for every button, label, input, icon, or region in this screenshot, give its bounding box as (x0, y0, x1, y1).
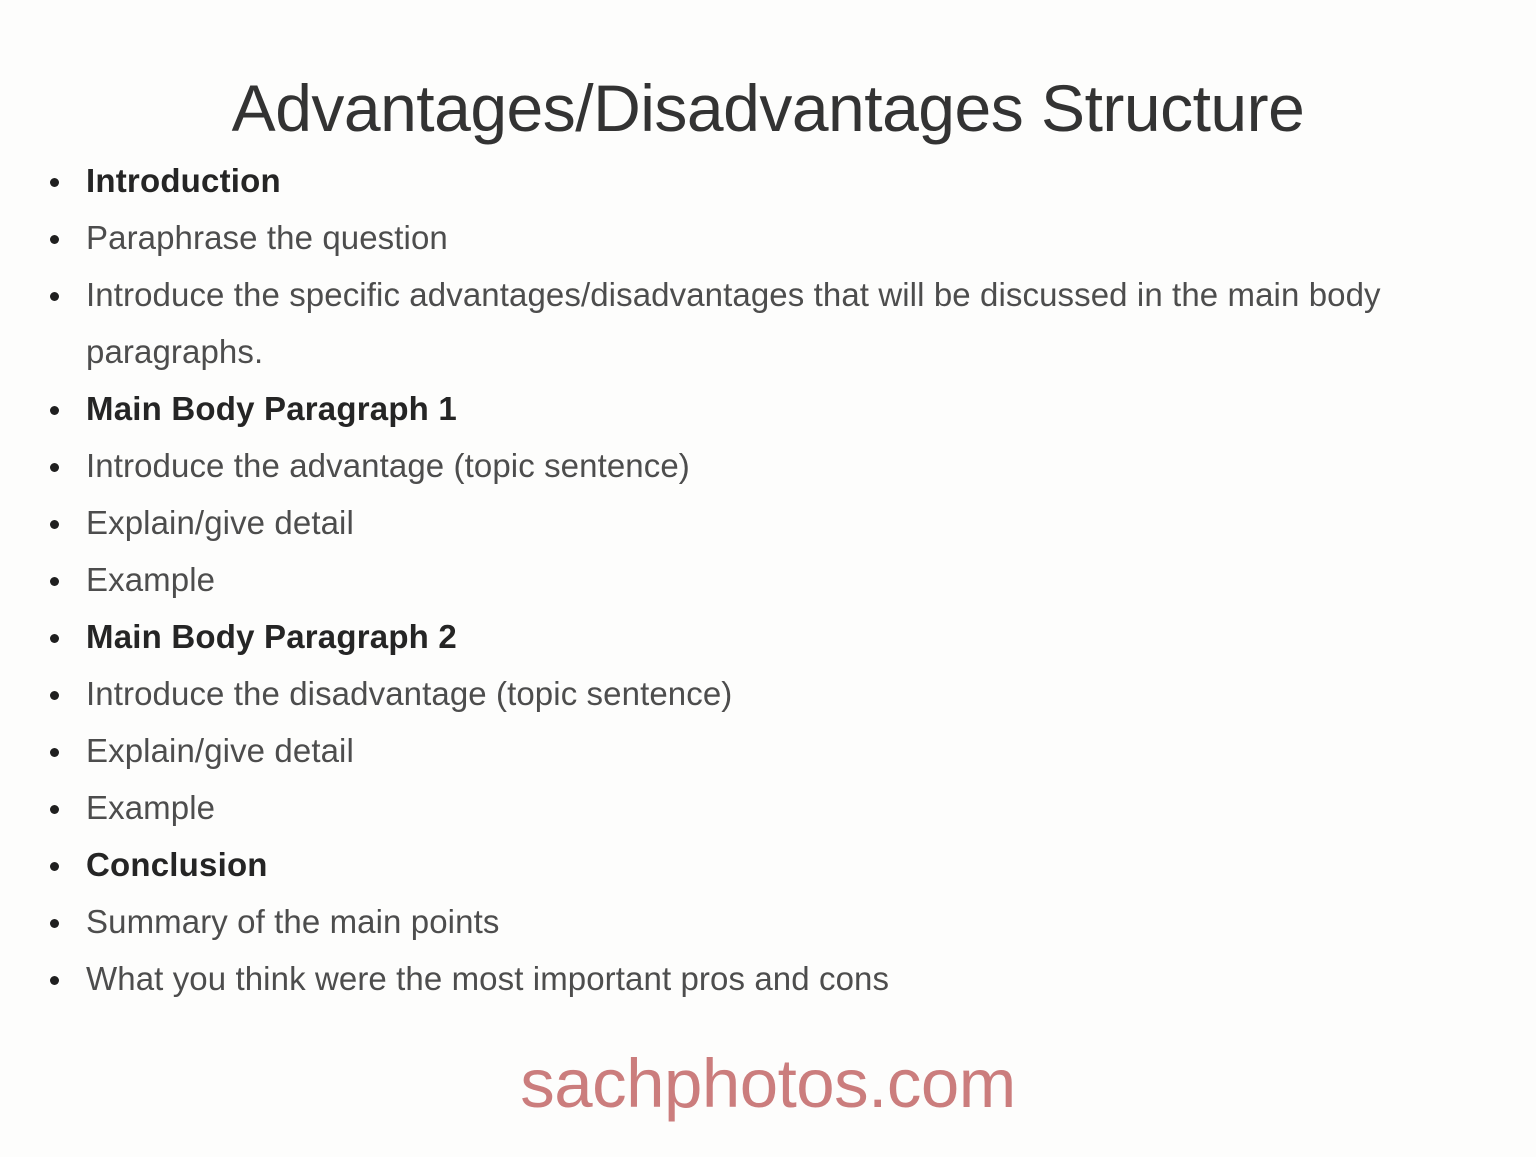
outline-bullet-item: Example (44, 551, 1492, 608)
bullet-dot-icon (50, 691, 59, 700)
outline-item-label: Main Body Paragraph 2 (86, 608, 1492, 665)
outline-item-label: Explain/give detail (86, 494, 1492, 551)
bullet-dot-icon (50, 178, 59, 187)
bullet-dot-icon (50, 805, 59, 814)
outline-item-label: Paraphrase the question (86, 209, 1492, 266)
outline-bullet-item: Explain/give detail (44, 494, 1492, 551)
outline-bullet-item: Introduce the specific advantages/disadv… (44, 266, 1492, 380)
bullet-dot-icon (50, 406, 59, 415)
bullet-dot-icon (50, 976, 59, 985)
outline-bullet-item: Introduce the advantage (topic sentence) (44, 437, 1492, 494)
bullet-dot-icon (50, 634, 59, 643)
bullet-dot-icon (50, 292, 59, 301)
outline-item-label: What you think were the most important p… (86, 950, 1492, 1007)
outline-item-label: Conclusion (86, 836, 1492, 893)
outline-section-heading: Introduction (44, 152, 1492, 209)
outline-bullet-item: Paraphrase the question (44, 209, 1492, 266)
outline-section-heading: Main Body Paragraph 1 (44, 380, 1492, 437)
outline-bullet-item: Explain/give detail (44, 722, 1492, 779)
outline-item-label: Example (86, 551, 1492, 608)
bullet-dot-icon (50, 520, 59, 529)
outline-bullet-list: IntroductionParaphrase the questionIntro… (44, 152, 1492, 1007)
outline-section-heading: Conclusion (44, 836, 1492, 893)
outline-item-label: Example (86, 779, 1492, 836)
bullet-dot-icon (50, 577, 59, 586)
bullet-dot-icon (50, 235, 59, 244)
outline-item-label: Introduce the specific advantages/disadv… (86, 266, 1492, 380)
outline-bullet-item: What you think were the most important p… (44, 950, 1492, 1007)
outline-item-label: Introduce the disadvantage (topic senten… (86, 665, 1492, 722)
bullet-dot-icon (50, 748, 59, 757)
outline-bullet-item: Summary of the main points (44, 893, 1492, 950)
outline-item-label: Explain/give detail (86, 722, 1492, 779)
bullet-dot-icon (50, 463, 59, 472)
slide-canvas: Advantages/Disadvantages Structure Intro… (0, 0, 1536, 1157)
outline-bullet-item: Example (44, 779, 1492, 836)
bullet-dot-icon (50, 919, 59, 928)
outline-bullet-item: Introduce the disadvantage (topic senten… (44, 665, 1492, 722)
outline-item-label: Summary of the main points (86, 893, 1492, 950)
watermark-sachphotos: sachphotos.com (0, 1046, 1536, 1122)
bullet-dot-icon (50, 862, 59, 871)
outline-item-label: Introduce the advantage (topic sentence) (86, 437, 1492, 494)
page-title: Advantages/Disadvantages Structure (0, 70, 1536, 148)
outline-section-heading: Main Body Paragraph 2 (44, 608, 1492, 665)
outline-item-label: Introduction (86, 152, 1492, 209)
outline-item-label: Main Body Paragraph 1 (86, 380, 1492, 437)
